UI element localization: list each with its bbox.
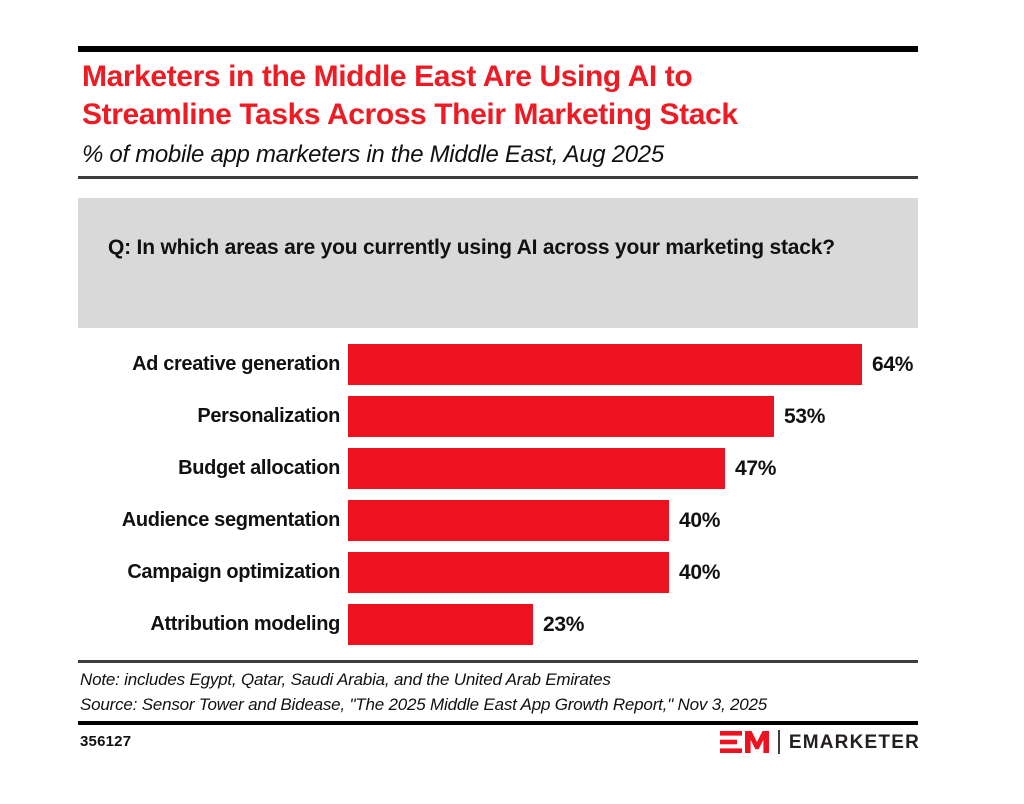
table-row: Audience segmentation 40% — [0, 500, 1024, 541]
table-row: Budget allocation 47% — [0, 448, 1024, 489]
em-monogram-icon — [720, 730, 770, 754]
bar-value-label: 40% — [679, 500, 720, 541]
note-text: Note: includes Egypt, Qatar, Saudi Arabi… — [80, 668, 940, 693]
question-text: Q: In which areas are you currently usin… — [108, 232, 898, 265]
bar-value-label: 23% — [543, 604, 584, 645]
bar-track: 53% — [348, 396, 948, 437]
bar-category-label: Budget allocation — [0, 448, 340, 489]
table-row: Campaign optimization 40% — [0, 552, 1024, 593]
page-title-line-1: Marketers in the Middle East Are Using A… — [82, 60, 692, 93]
bar-ad-creative-generation[interactable] — [348, 344, 862, 385]
bar-campaign-optimization[interactable] — [348, 552, 669, 593]
top-divider-rule — [78, 46, 918, 52]
bar-value-label: 47% — [735, 448, 776, 489]
bar-category-label: Ad creative generation — [0, 344, 340, 385]
table-row: Ad creative generation 64% — [0, 344, 1024, 385]
chart-canvas: Marketers in the Middle East Are Using A… — [0, 0, 1024, 804]
bar-track: 47% — [348, 448, 948, 489]
bar-track: 64% — [348, 344, 948, 385]
page-title-line-2: Streamline Tasks Across Their Marketing … — [82, 96, 922, 134]
bar-category-label: Campaign optimization — [0, 552, 340, 593]
table-row: Attribution modeling 23% — [0, 604, 1024, 645]
source-text: Source: Sensor Tower and Bidease, "The 2… — [80, 693, 940, 718]
logo-divider — [778, 730, 780, 754]
table-row: Personalization 53% — [0, 396, 1024, 437]
page-title: Marketers in the Middle East Are Using A… — [82, 58, 922, 134]
bar-attribution-modeling[interactable] — [348, 604, 533, 645]
bar-track: 40% — [348, 500, 948, 541]
footnotes: Note: includes Egypt, Qatar, Saudi Arabi… — [80, 668, 940, 717]
bar-value-label: 40% — [679, 552, 720, 593]
chart-id: 356127 — [80, 733, 131, 750]
bar-value-label: 53% — [784, 396, 825, 437]
bar-chart: Ad creative generation 64% Personalizati… — [0, 344, 1024, 656]
brand-wordmark: EMARKETER — [789, 733, 920, 752]
bar-track: 23% — [348, 604, 948, 645]
bar-audience-segmentation[interactable] — [348, 500, 669, 541]
notes-divider-rule — [78, 660, 918, 663]
bar-budget-allocation[interactable] — [348, 448, 725, 489]
bar-value-label: 64% — [872, 344, 913, 385]
bar-personalization[interactable] — [348, 396, 774, 437]
emarketer-logo[interactable]: EMARKETER — [720, 729, 920, 755]
bar-category-label: Audience segmentation — [0, 500, 340, 541]
footer-divider-rule — [78, 721, 918, 725]
bar-category-label: Attribution modeling — [0, 604, 340, 645]
subtitle-divider-rule — [78, 176, 918, 179]
bar-category-label: Personalization — [0, 396, 340, 437]
bar-track: 40% — [348, 552, 948, 593]
page-subtitle: % of mobile app marketers in the Middle … — [82, 141, 932, 169]
